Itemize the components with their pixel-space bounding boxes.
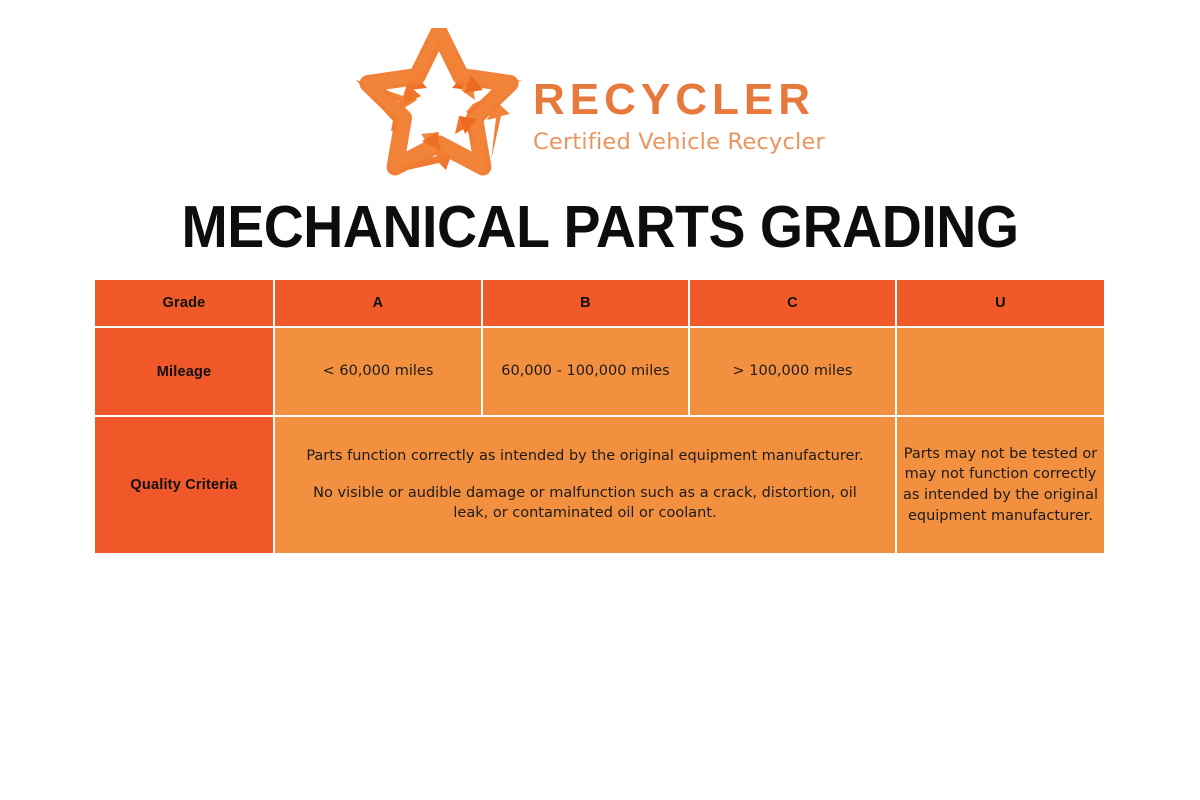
quality-paragraph-2: No visible or audible damage or malfunct… (275, 484, 895, 523)
row-label-quality-criteria: Quality Criteria (95, 417, 275, 553)
mechanical-parts-grading-table: Grade A B C U Mileage < 60,000 miles 60,… (95, 280, 1104, 553)
brand-logo: RECYCLER Certified Vehicle Recycler (0, 28, 1200, 178)
cell-quality-criteria-abc: Parts function correctly as intended by … (275, 417, 897, 553)
quality-paragraph-1: Parts function correctly as intended by … (275, 447, 895, 467)
column-header-b: B (483, 280, 690, 328)
cell-mileage-u (897, 328, 1104, 417)
table-header-row: Grade A B C U (95, 280, 1104, 328)
table-row-mileage: Mileage < 60,000 miles 60,000 - 100,000 … (95, 328, 1104, 417)
cell-mileage-c: > 100,000 miles (690, 328, 897, 417)
table-row-quality-criteria: Quality Criteria Parts function correctl… (95, 417, 1104, 553)
column-header-c: C (690, 280, 897, 328)
cell-mileage-a: < 60,000 miles (275, 328, 483, 417)
cell-quality-criteria-u: Parts may not be tested or may not funct… (897, 417, 1104, 553)
recycling-star-icon (351, 28, 527, 178)
cell-mileage-b: 60,000 - 100,000 miles (483, 328, 690, 417)
logo-tagline: Certified Vehicle Recycler (533, 131, 825, 154)
logo-wordmark: RECYCLER (533, 78, 815, 122)
column-header-a: A (275, 280, 483, 328)
column-header-u: U (897, 280, 1104, 328)
row-label-mileage: Mileage (95, 328, 275, 417)
column-header-grade: Grade (95, 280, 275, 328)
page-title: MECHANICAL PARTS GRADING (36, 197, 1164, 259)
